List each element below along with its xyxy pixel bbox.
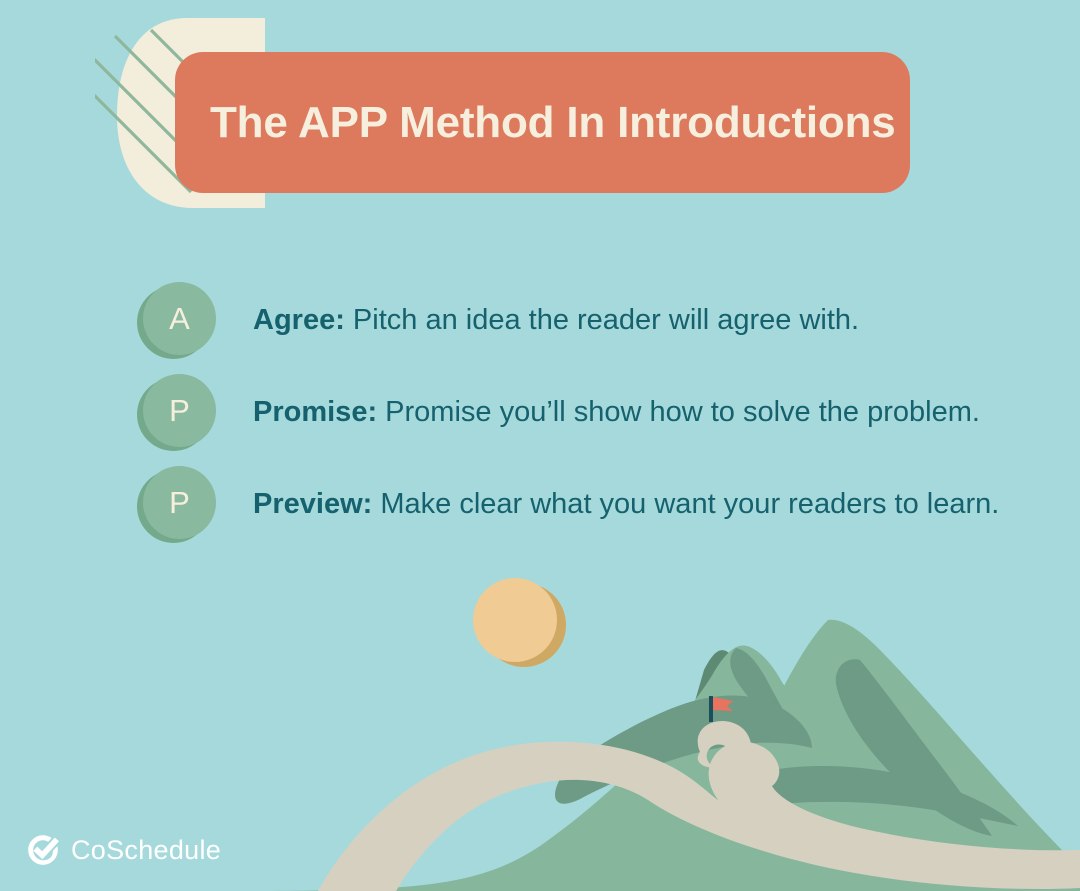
app-method-list: A Agree: Pitch an idea the reader will a… [137,275,1037,551]
sun-moon-circle [473,578,566,667]
logo-wordmark: CoSchedule [71,837,221,864]
fold-upper-left [730,648,800,738]
method-lead: Promise: [253,396,377,428]
letter-badge-a: A [137,282,216,361]
method-description-row: Preview: Make clear what you want your r… [253,488,999,521]
moon-back-disc [482,583,566,667]
winding-path [318,742,1080,891]
badge-letter: P [169,487,190,518]
summit-flag [709,696,733,722]
mountain-body [245,620,1080,891]
list-item: P Promise: Promise you’ll show how to so… [137,367,1037,459]
method-body: Make clear what you want your readers to… [372,488,999,520]
path-switchback [698,721,752,768]
mountain-with-winding-path [245,620,1080,891]
fold-right-face [836,659,992,836]
moon-front-disc [473,578,557,662]
ridge-dark-left [640,649,828,891]
method-description-row: Promise: Promise you’ll show how to solv… [253,396,980,429]
letter-badge-p1: P [137,374,216,453]
badge-letter: A [169,303,190,334]
path-helper [705,748,789,812]
check-circle-icon [26,833,60,867]
fold-lower-left [555,696,812,804]
list-item: P Preview: Make clear what you want your… [137,459,1037,551]
method-body: Promise you’ll show how to solve the pro… [377,396,980,428]
badge-face: P [143,374,216,447]
fold-lower-right [739,766,1018,826]
list-item: A Agree: Pitch an idea the reader will a… [137,275,1037,367]
ridge-dark-right [760,620,1010,891]
badge-face: A [143,282,216,355]
badge-letter: P [169,395,190,426]
method-body: Pitch an idea the reader will agree with… [345,304,859,336]
flag-pole [709,696,713,722]
title-banner: The APP Method In Introductions [175,52,910,193]
badge-face: P [143,466,216,539]
method-lead: Agree: [253,304,345,336]
letter-badge-p2: P [137,466,216,545]
method-lead: Preview: [253,488,372,520]
page-title: The APP Method In Introductions [210,98,896,148]
coschedule-logo: CoSchedule [26,833,221,867]
method-description-row: Agree: Pitch an idea the reader will agr… [253,304,859,337]
infographic-canvas: The APP Method In Introductions A Agree:… [0,0,1080,891]
flag-cloth [713,697,733,711]
